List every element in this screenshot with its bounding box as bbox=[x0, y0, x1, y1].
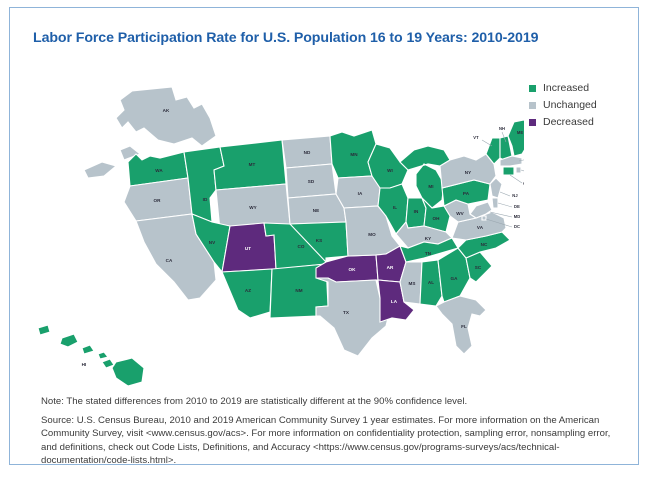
state-HI[interactable] bbox=[38, 325, 144, 386]
note-statistical: Note: The stated differences from 2010 t… bbox=[41, 395, 619, 409]
state-label-IL: IL bbox=[393, 205, 397, 210]
state-label-AL: AL bbox=[428, 280, 434, 285]
state-label-MO: MO bbox=[368, 232, 376, 237]
state-label-FL: FL bbox=[461, 324, 467, 329]
state-DE[interactable] bbox=[492, 198, 498, 208]
state-label-UT: UT bbox=[245, 246, 251, 251]
leader-line-DE bbox=[498, 203, 512, 207]
state-label-AZ: AZ bbox=[245, 288, 251, 293]
state-label-NH: NH bbox=[499, 126, 505, 131]
state-label-MT: MT bbox=[249, 162, 256, 167]
legend-swatch-increased bbox=[529, 85, 536, 92]
note-source: Source: U.S. Census Bureau, 2010 and 201… bbox=[41, 414, 619, 468]
legend-swatch-unchanged bbox=[529, 102, 536, 109]
state-DC[interactable] bbox=[482, 216, 486, 220]
legend-label-increased: Increased bbox=[543, 83, 589, 94]
state-label-AR: AR bbox=[387, 265, 394, 270]
state-label-DE: DE bbox=[514, 204, 520, 209]
state-label-NY: NY bbox=[465, 170, 472, 175]
state-label-AK: AK bbox=[163, 108, 170, 113]
state-label-MS: MS bbox=[408, 281, 415, 286]
state-AZ[interactable] bbox=[222, 269, 272, 318]
state-label-VT: VT bbox=[473, 135, 479, 140]
legend-item-decreased[interactable]: Decreased bbox=[529, 114, 639, 131]
state-label-WY: WY bbox=[249, 205, 257, 210]
choropleth-map: AK HI WA OR ID MT WY CA NV UT CO AZ bbox=[24, 66, 524, 386]
state-label-IA: IA bbox=[358, 191, 363, 196]
state-label-CA: CA bbox=[166, 258, 173, 263]
state-label-NC: NC bbox=[481, 242, 488, 247]
state-label-IN: IN bbox=[414, 209, 419, 214]
state-label-NV: NV bbox=[209, 240, 216, 245]
state-label-SC: SC bbox=[475, 265, 482, 270]
leader-line-CT bbox=[510, 175, 522, 183]
legend-item-unchanged[interactable]: Unchanged bbox=[529, 97, 639, 114]
figure-notes: Note: The stated differences from 2010 t… bbox=[41, 395, 619, 471]
state-label-WI: WI bbox=[387, 168, 393, 173]
state-label-WA: WA bbox=[155, 168, 163, 173]
state-CT[interactable] bbox=[503, 167, 514, 175]
state-label-OH: OH bbox=[432, 216, 440, 221]
state-label-ND: ND bbox=[304, 150, 311, 155]
state-label-SD: SD bbox=[308, 179, 315, 184]
state-label-HI: HI bbox=[82, 362, 87, 367]
legend-item-increased[interactable]: Increased bbox=[529, 80, 639, 97]
state-label-MD: MD bbox=[514, 214, 521, 219]
state-label-PA: PA bbox=[463, 191, 470, 196]
legend-label-decreased: Decreased bbox=[543, 117, 594, 128]
state-label-MI: MI bbox=[428, 184, 433, 189]
state-label-NM: NM bbox=[295, 288, 302, 293]
state-label-CT: CT bbox=[523, 181, 524, 186]
map-legend: Increased Unchanged Decreased bbox=[529, 80, 639, 131]
state-label-ID: ID bbox=[203, 197, 208, 202]
state-label-TX: TX bbox=[343, 310, 350, 315]
state-label-KY: KY bbox=[425, 236, 432, 241]
state-label-DC: DC bbox=[514, 224, 520, 229]
legend-swatch-decreased bbox=[529, 119, 536, 126]
state-label-LA: LA bbox=[391, 299, 398, 304]
state-label-CO: CO bbox=[297, 244, 304, 249]
page-title: Labor Force Participation Rate for U.S. … bbox=[33, 30, 633, 46]
leader-line-NJ bbox=[500, 192, 510, 196]
state-label-NE: NE bbox=[313, 208, 320, 213]
state-label-ME: ME bbox=[517, 130, 524, 135]
state-label-TN: TN bbox=[425, 251, 432, 256]
state-label-VA: VA bbox=[477, 225, 484, 230]
state-label-NJ: NJ bbox=[512, 193, 517, 198]
state-RI[interactable] bbox=[516, 167, 521, 173]
state-label-OR: OR bbox=[153, 198, 161, 203]
state-label-MN: MN bbox=[350, 152, 358, 157]
legend-label-unchanged: Unchanged bbox=[543, 100, 597, 111]
state-label-KS: KS bbox=[316, 238, 323, 243]
state-label-OK: OK bbox=[348, 267, 356, 272]
state-label-GA: GA bbox=[450, 276, 458, 281]
figure-frame: Labor Force Participation Rate for U.S. … bbox=[9, 7, 639, 465]
state-label-WV: WV bbox=[456, 211, 464, 216]
